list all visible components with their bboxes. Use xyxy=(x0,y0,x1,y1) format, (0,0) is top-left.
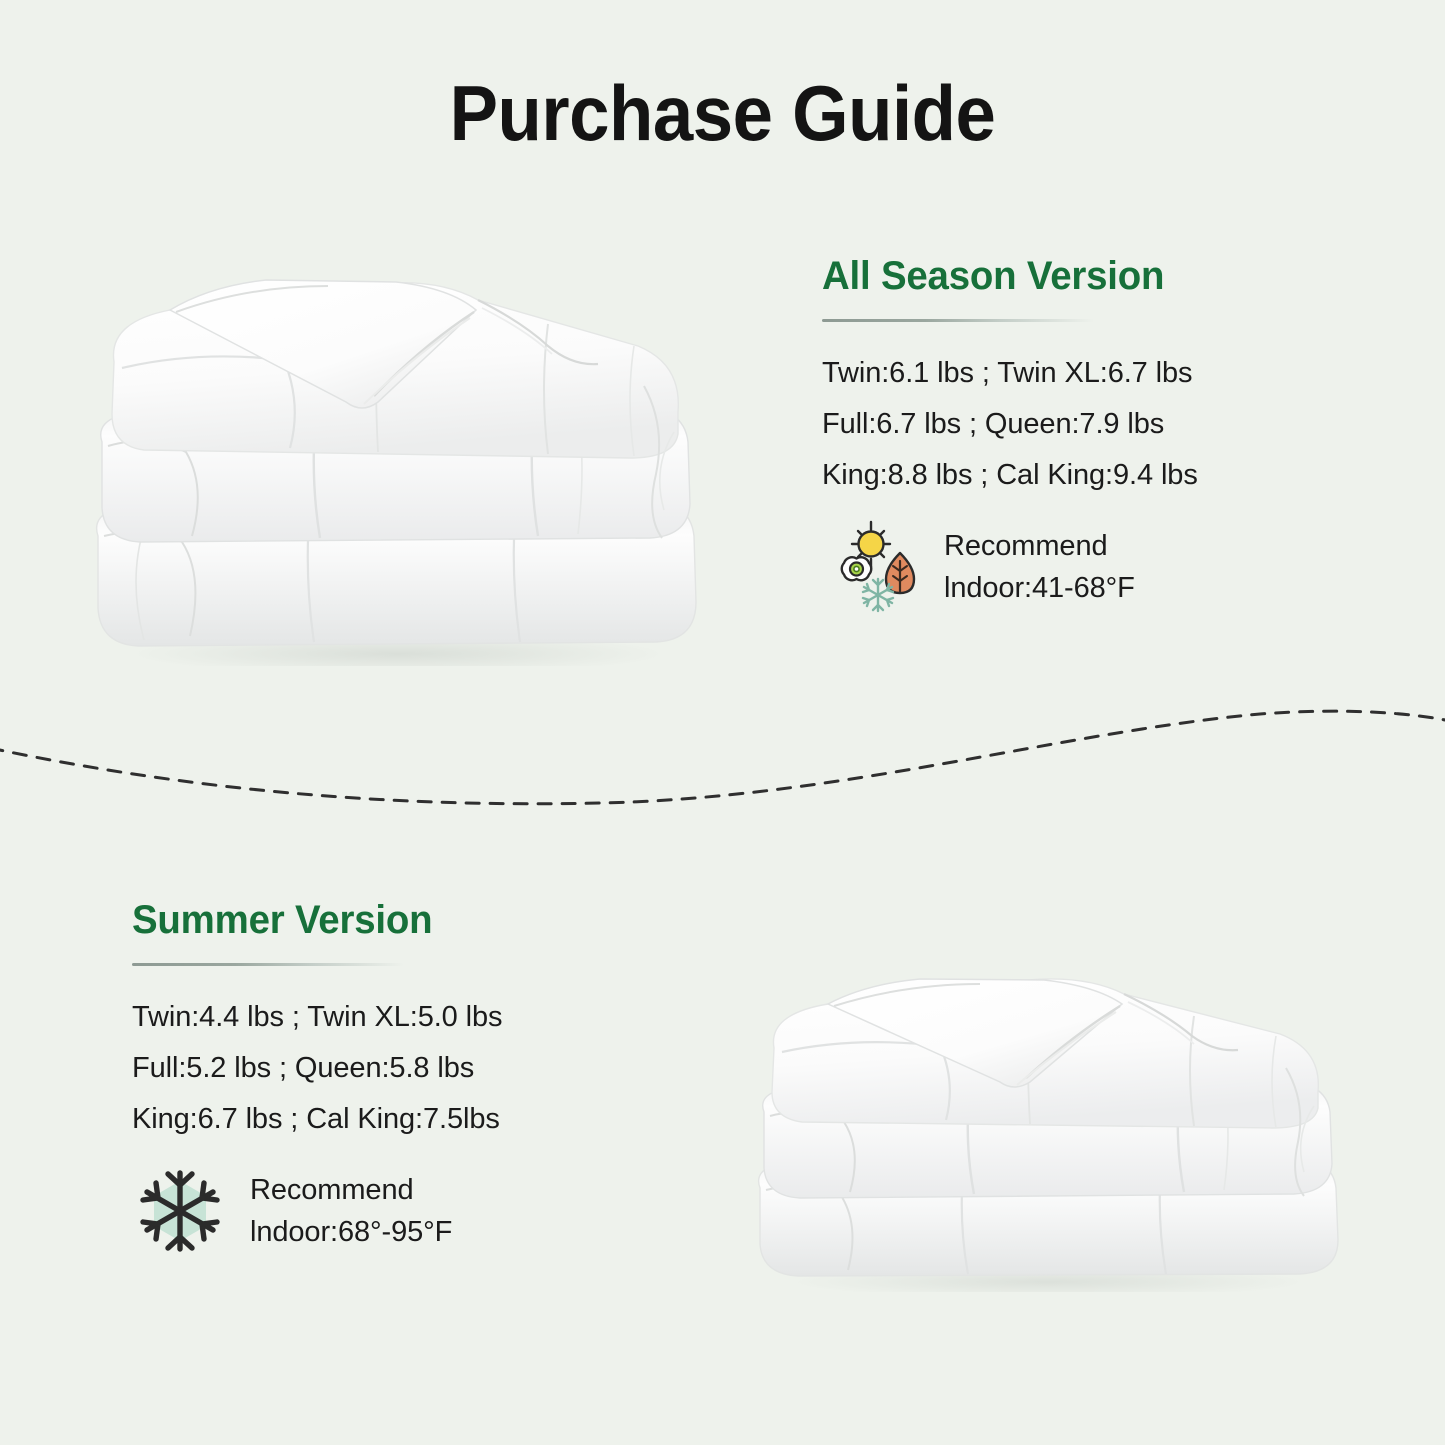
summer-recommend-text: Recommend lndoor:68°-95°F xyxy=(250,1169,452,1253)
summer-specs: Twin:4.4 lbs ; Twin XL:5.0 lbs Full:5.2 … xyxy=(132,992,652,1145)
summer-section: Summer Version Twin:4.4 lbs ; Twin XL:5.… xyxy=(132,896,652,1259)
all-season-specs: Twin:6.1 lbs ; Twin XL:6.7 lbs Full:6.7 … xyxy=(822,348,1342,501)
page-title: Purchase Guide xyxy=(51,66,1395,160)
snowflake-icon xyxy=(863,579,893,611)
summer-heading: Summer Version xyxy=(132,896,631,944)
summer-product-image xyxy=(742,952,1350,1292)
summer-rule xyxy=(132,963,404,966)
spec-line: King:8.8 lbs ; Cal King:9.4 lbs xyxy=(822,450,1342,501)
recommend-range: lndoor:68°-95°F xyxy=(250,1211,452,1253)
infographic-canvas: Purchase Guide xyxy=(0,0,1445,1445)
spec-line: Full:6.7 lbs ; Queen:7.9 lbs xyxy=(822,399,1342,450)
recommend-range: lndoor:41-68°F xyxy=(944,567,1135,609)
all-season-recommend-text: Recommend lndoor:41-68°F xyxy=(944,525,1135,609)
spec-line: King:6.7 lbs ; Cal King:7.5lbs xyxy=(132,1094,652,1145)
recommend-label: Recommend xyxy=(944,525,1135,567)
all-season-product-image xyxy=(78,236,708,666)
recommend-label: Recommend xyxy=(250,1169,452,1211)
dashed-wave-divider xyxy=(0,660,1445,860)
spec-line: Twin:4.4 lbs ; Twin XL:5.0 lbs xyxy=(132,992,652,1043)
four-seasons-icon-cluster xyxy=(822,519,922,615)
spec-line: Full:5.2 lbs ; Queen:5.8 lbs xyxy=(132,1043,652,1094)
spec-line: Twin:6.1 lbs ; Twin XL:6.7 lbs xyxy=(822,348,1342,399)
summer-recommend-row: Recommend lndoor:68°-95°F xyxy=(132,1163,652,1259)
all-season-section: All Season Version Twin:6.1 lbs ; Twin X… xyxy=(822,252,1342,615)
all-season-heading: All Season Version xyxy=(822,252,1321,300)
flower-icon xyxy=(842,557,871,580)
snowflake-icon xyxy=(132,1163,228,1259)
all-season-recommend-row: Recommend lndoor:41-68°F xyxy=(822,519,1342,615)
all-season-rule xyxy=(822,319,1094,322)
